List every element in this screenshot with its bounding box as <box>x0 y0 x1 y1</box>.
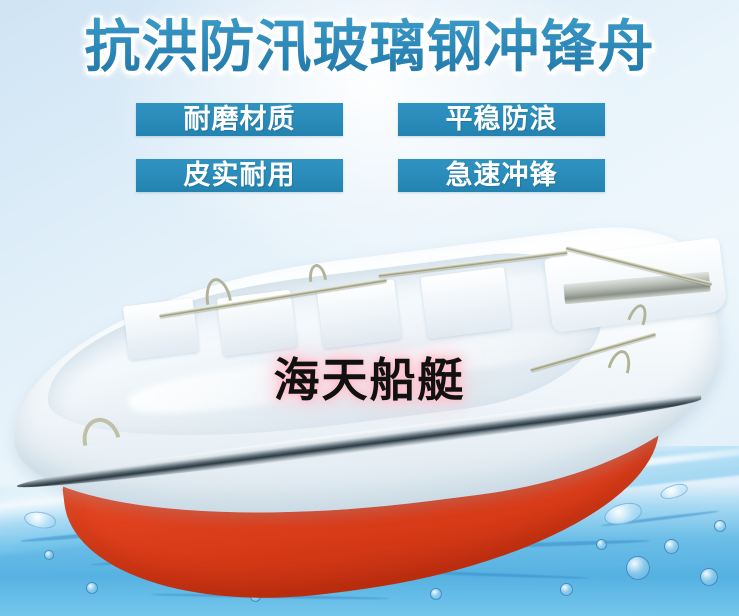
feature-badge-3[interactable]: 皮实耐用 <box>136 159 343 192</box>
water-bubble <box>560 583 573 596</box>
boat-seat <box>420 267 511 339</box>
feature-badge-1[interactable]: 耐磨材质 <box>136 103 343 136</box>
boat-seat <box>123 298 199 360</box>
watermark-text: 海天船艇 <box>274 352 466 408</box>
deck-cleat-icon <box>202 276 232 305</box>
feature-badge-2[interactable]: 平稳防浪 <box>398 103 605 136</box>
feature-badge-2-label: 平稳防浪 <box>446 103 558 136</box>
water-bubble <box>86 582 98 594</box>
feature-badge-3-label: 皮实耐用 <box>184 159 296 192</box>
watermark: 海天船艇 <box>0 352 739 408</box>
feature-badge-4[interactable]: 急速冲锋 <box>398 159 605 192</box>
feature-badge-1-label: 耐磨材质 <box>184 103 296 136</box>
feature-badge-list: 耐磨材质 平稳防浪 皮实耐用 急速冲锋 <box>136 103 606 192</box>
water-bubble <box>430 588 442 600</box>
page-title: 抗洪防汛玻璃钢冲锋舟 <box>0 8 739 86</box>
feature-badge-4-label: 急速冲锋 <box>446 159 558 192</box>
product-poster: 抗洪防汛玻璃钢冲锋舟 抗洪防汛玻璃钢冲锋舟 耐磨材质 平稳防浪 皮实耐用 急速冲… <box>0 0 739 616</box>
page-title-text: 抗洪防汛玻璃钢冲锋舟 <box>85 12 655 82</box>
